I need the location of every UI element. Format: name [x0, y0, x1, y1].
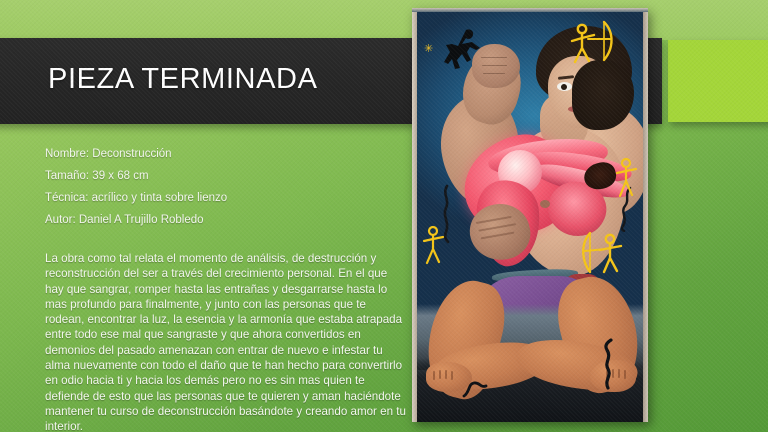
- figure-fist: [472, 44, 520, 88]
- archer-icon-right: [614, 156, 640, 202]
- description-paragraph: La obra como tal relata el momento de an…: [45, 251, 407, 432]
- metadata-name: Nombre: Deconstrucción: [45, 143, 405, 165]
- archer-icon-left: [420, 224, 446, 268]
- metadata-size: Tamaño: 39 x 68 cm: [45, 165, 405, 187]
- canvas-edge-top: [412, 8, 648, 12]
- presentation-slide: PIEZA TERMINADA Nombre: Deconstrucción T…: [0, 0, 768, 432]
- archer-icon-lower-right: [580, 230, 634, 280]
- metadata-technique: Técnica: acrílico y tinta sobre lienzo: [45, 187, 405, 209]
- artwork-metadata: Nombre: Deconstrucción Tamaño: 39 x 68 c…: [45, 143, 405, 231]
- description-block: La obra como tal relata el momento de an…: [45, 251, 407, 432]
- figure-nipple: [540, 200, 550, 208]
- archer-icon-top: [560, 20, 620, 72]
- canvas-edge-left: [412, 8, 417, 422]
- spark-icon: ✳: [424, 44, 433, 55]
- metadata-author: Autor: Daniel A Trujillo Robledo: [45, 209, 405, 231]
- artwork-image: ✳: [412, 8, 648, 422]
- artwork-canvas: ✳: [412, 8, 648, 422]
- smoke-wisp-icon-2: [462, 374, 492, 398]
- canvas-edge-right: [643, 8, 648, 422]
- smoke-wisp-icon: [594, 338, 620, 390]
- accent-rectangle: [668, 40, 768, 122]
- top-green-band: [0, 0, 768, 40]
